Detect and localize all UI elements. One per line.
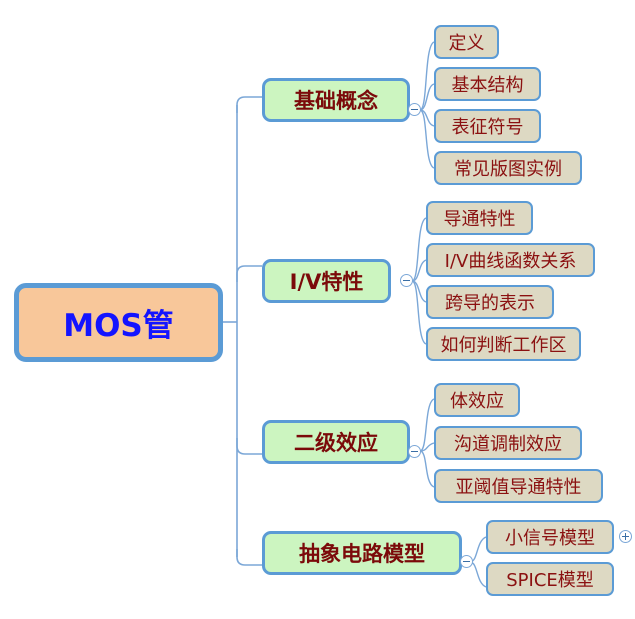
leaf-node-transconductance[interactable]: 跨导的表示 <box>426 285 554 319</box>
leaf-node-label: 体效应 <box>450 387 504 413</box>
branch-node-secondary-effects[interactable]: 二级效应 <box>262 420 410 464</box>
leaf-node-label: 亚阈值导通特性 <box>456 473 582 499</box>
leaf-node-operating-region[interactable]: 如何判断工作区 <box>426 327 581 361</box>
leaf-node-iv-curve-function[interactable]: I/V曲线函数关系 <box>426 243 595 277</box>
leaf-node-label: 跨导的表示 <box>445 289 535 315</box>
leaf-node-small-signal-model[interactable]: 小信号模型 <box>486 520 614 554</box>
root-node-label: MOS管 <box>63 300 174 345</box>
leaf-node-layout-examples[interactable]: 常见版图实例 <box>434 151 582 185</box>
leaf-node-conduction[interactable]: 导通特性 <box>426 201 533 235</box>
leaf-node-definition[interactable]: 定义 <box>434 25 499 59</box>
collapse-toggle-secondary-effects[interactable] <box>408 445 421 458</box>
collapse-toggle-iv-characteristics[interactable] <box>400 274 413 287</box>
leaf-node-label: 小信号模型 <box>505 524 595 550</box>
mindmap-canvas: MOS管 基础概念 定义 基本结构 表征符号 常见版图实例 I/V特性 导通特性… <box>0 0 635 619</box>
branch-node-label: 抽象电路模型 <box>299 538 425 568</box>
leaf-node-label: 定义 <box>449 29 485 55</box>
branch-node-label: 二级效应 <box>294 427 378 457</box>
collapse-toggle-basic-concepts[interactable] <box>408 103 421 116</box>
branch-node-label: I/V特性 <box>290 266 364 296</box>
leaf-node-label: SPICE模型 <box>506 566 594 592</box>
leaf-node-body-effect[interactable]: 体效应 <box>434 383 520 417</box>
branch-node-iv-characteristics[interactable]: I/V特性 <box>262 259 391 303</box>
leaf-node-basic-structure[interactable]: 基本结构 <box>434 67 541 101</box>
leaf-node-label: 基本结构 <box>452 71 524 97</box>
branch-node-abstract-circuit-model[interactable]: 抽象电路模型 <box>262 531 462 575</box>
leaf-node-label: 常见版图实例 <box>454 155 562 181</box>
leaf-node-symbol[interactable]: 表征符号 <box>434 109 541 143</box>
leaf-node-channel-modulation[interactable]: 沟道调制效应 <box>434 426 582 460</box>
leaf-node-label: 表征符号 <box>452 113 524 139</box>
branch-node-label: 基础概念 <box>294 85 378 115</box>
leaf-node-spice-model[interactable]: SPICE模型 <box>486 562 614 596</box>
leaf-node-label: 沟道调制效应 <box>454 430 562 456</box>
leaf-node-label: 如何判断工作区 <box>441 331 567 357</box>
leaf-node-label: 导通特性 <box>444 205 516 231</box>
leaf-node-label: I/V曲线函数关系 <box>445 247 577 273</box>
root-node-mos[interactable]: MOS管 <box>14 283 223 362</box>
leaf-node-subthreshold-conduction[interactable]: 亚阈值导通特性 <box>434 469 603 503</box>
branch-node-basic-concepts[interactable]: 基础概念 <box>262 78 410 122</box>
expand-toggle-small-signal-model[interactable] <box>619 530 632 543</box>
collapse-toggle-abstract-circuit-model[interactable] <box>460 555 473 568</box>
